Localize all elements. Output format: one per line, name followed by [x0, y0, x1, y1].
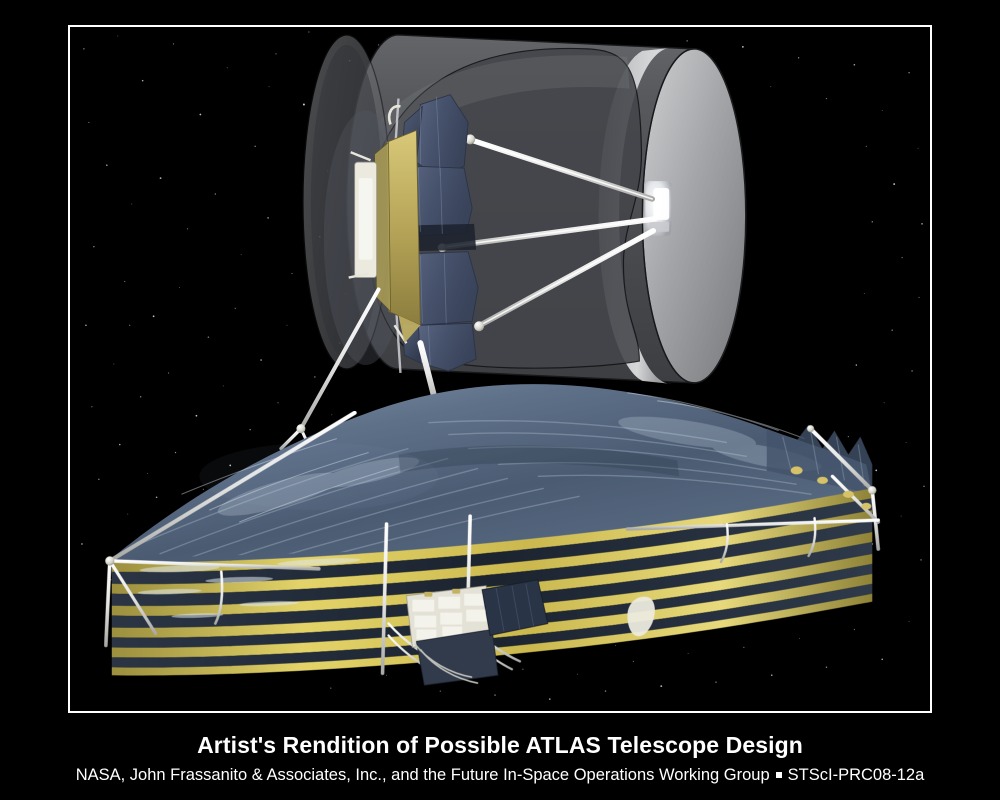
release-id: STScI-PRC08-12a [788, 766, 925, 784]
secondary-mirror-face [653, 188, 669, 220]
spar-left-corner-joint [105, 556, 114, 565]
screenshot-root: Artist's Rendition of Possible ATLAS Tel… [0, 0, 1000, 800]
page-title: Artist's Rendition of Possible ATLAS Tel… [0, 730, 1000, 760]
spar-right-top-joint [807, 425, 814, 432]
instrument-panel-highlight [359, 178, 373, 260]
secondary-mirror-assembly [645, 181, 671, 236]
square-bullet-icon [776, 772, 782, 778]
artwork-canvas [70, 27, 930, 711]
lower-left-strut-joint [296, 424, 305, 433]
sunshield-glow [199, 443, 438, 511]
spar-right-corner-joint [868, 486, 876, 494]
instrument-gold-body [387, 130, 421, 325]
caption-block: Artist's Rendition of Possible ATLAS Tel… [0, 716, 1000, 800]
space-telescope-illustration [70, 27, 930, 711]
credit-line: NASA, John Frassanito & Associates, Inc.… [0, 763, 1000, 787]
credit-text: NASA, John Frassanito & Associates, Inc.… [76, 766, 770, 784]
artwork-frame [68, 25, 932, 713]
strut-fitting-lower [474, 321, 484, 331]
